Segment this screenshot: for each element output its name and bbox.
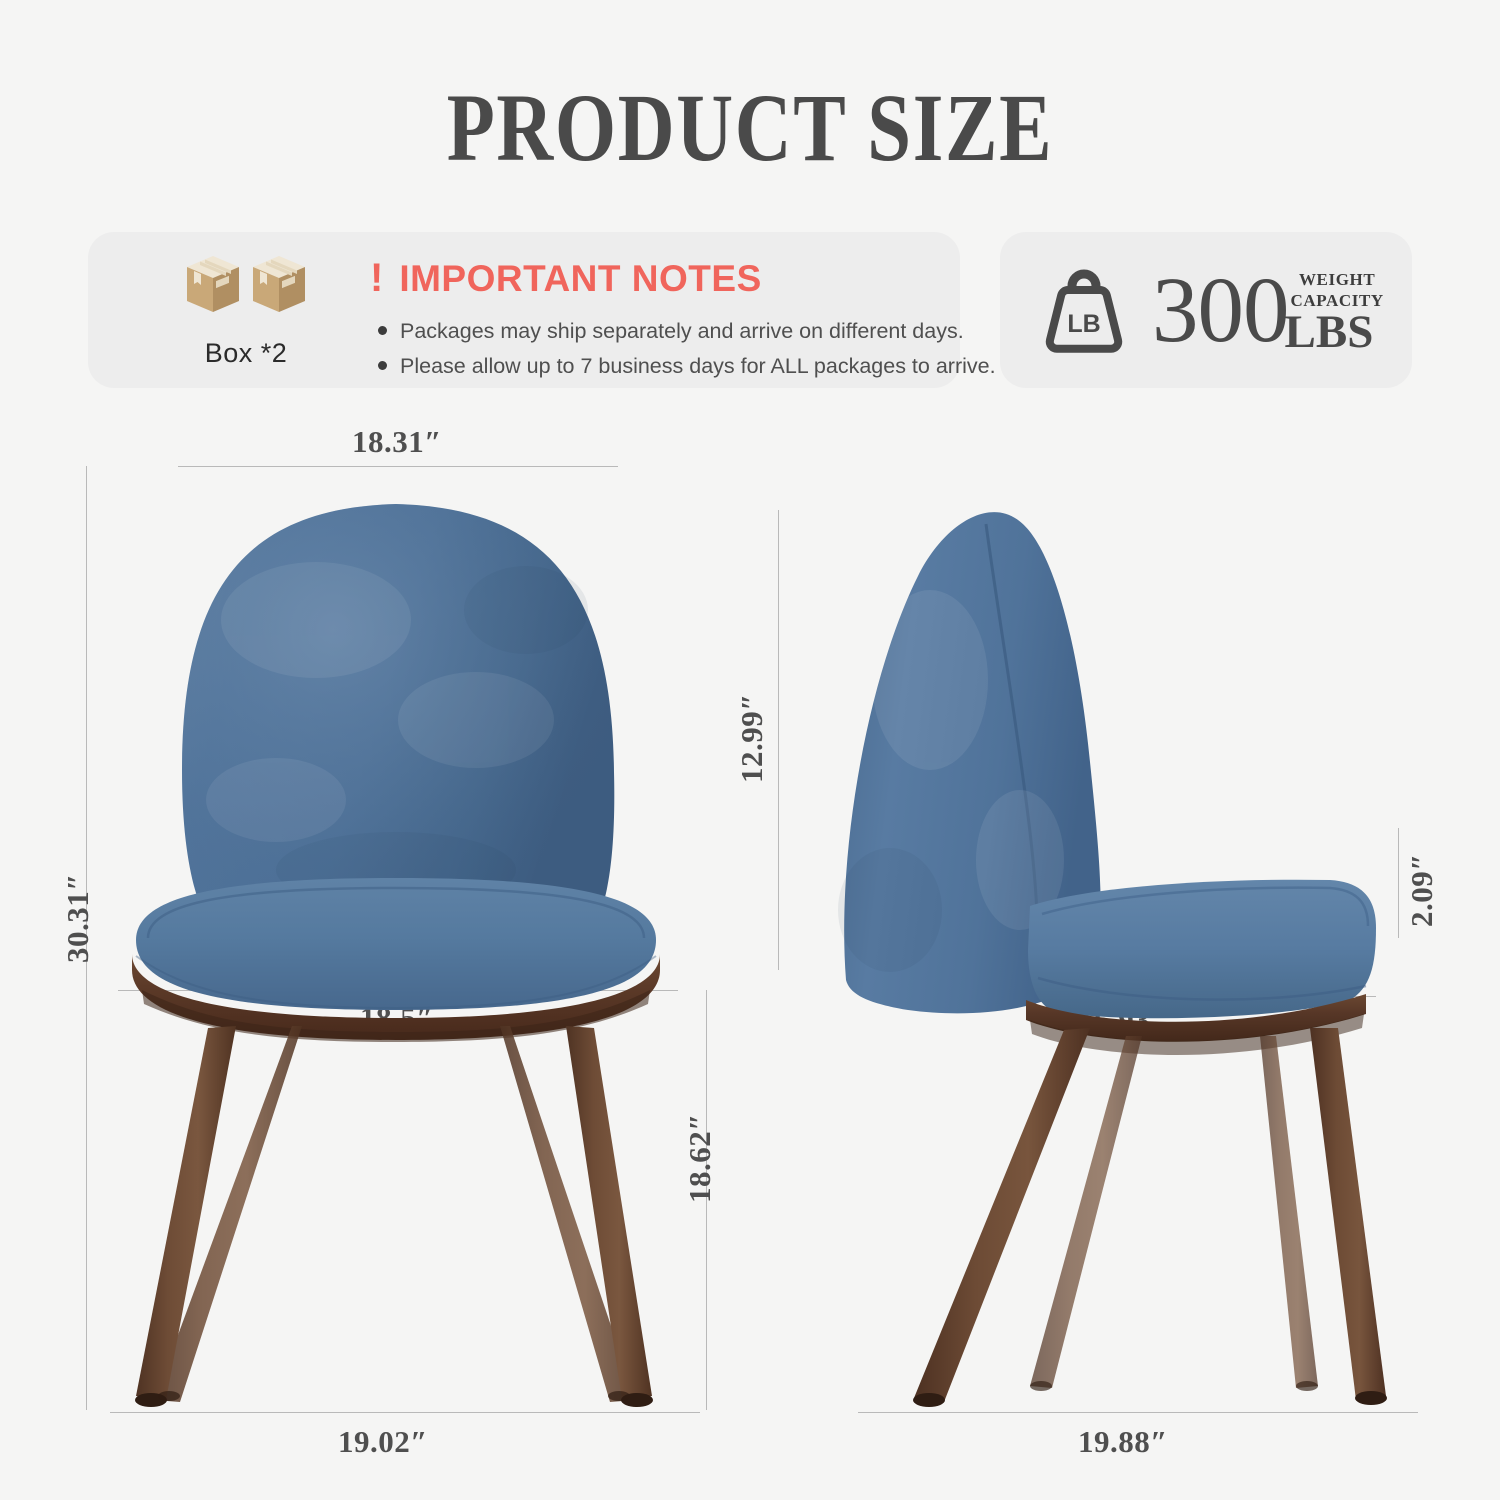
- cardboard-box-icon: [146, 254, 346, 336]
- important-notes-panel: Box *2 ! IMPORTANT NOTES Packages may sh…: [88, 232, 960, 388]
- chair-front-view: [96, 470, 716, 1420]
- box-count-group: Box *2: [146, 254, 346, 369]
- weight-capacity-panel: LB 300 WEIGHT CAPACITY LBS: [1000, 232, 1412, 388]
- list-item: Packages may ship separately and arrive …: [378, 314, 940, 349]
- bullet-icon: [378, 326, 387, 335]
- page-title: PRODUCT SIZE: [135, 78, 1365, 179]
- weight-unit: LBS: [1285, 309, 1374, 356]
- weight-lb-icon: LB: [1038, 260, 1130, 360]
- dim-line-side-back-height: [778, 510, 779, 970]
- notes-heading: ! IMPORTANT NOTES: [370, 258, 940, 298]
- bullet-icon: [378, 361, 387, 370]
- box-count-label: Box *2: [146, 338, 346, 369]
- alert-exclamation-icon: !: [370, 258, 383, 298]
- notes-title: IMPORTANT NOTES: [399, 260, 761, 297]
- dim-front-overall-height: 30.31″: [60, 858, 96, 978]
- chair-side-view: [790, 480, 1410, 1420]
- notes-body: ! IMPORTANT NOTES Packages may ship sepa…: [370, 258, 940, 384]
- note-text: Packages may ship separately and arrive …: [400, 314, 964, 349]
- dim-side-back-height: 12.99″: [734, 678, 770, 798]
- dim-front-base-width: 19.02″: [338, 1424, 428, 1460]
- weight-capacity-line1: WEIGHT: [1291, 270, 1384, 290]
- list-item: Please allow up to 7 business days for A…: [378, 349, 940, 384]
- dim-front-overall-width: 18.31″: [352, 424, 442, 460]
- notes-list: Packages may ship separately and arrive …: [378, 314, 940, 384]
- note-text: Please allow up to 7 business days for A…: [400, 349, 996, 384]
- svg-text:LB: LB: [1067, 310, 1100, 338]
- dim-line-front-width: [178, 466, 618, 467]
- weight-value: 300: [1152, 264, 1289, 357]
- dim-side-base-depth: 19.88″: [1078, 1424, 1168, 1460]
